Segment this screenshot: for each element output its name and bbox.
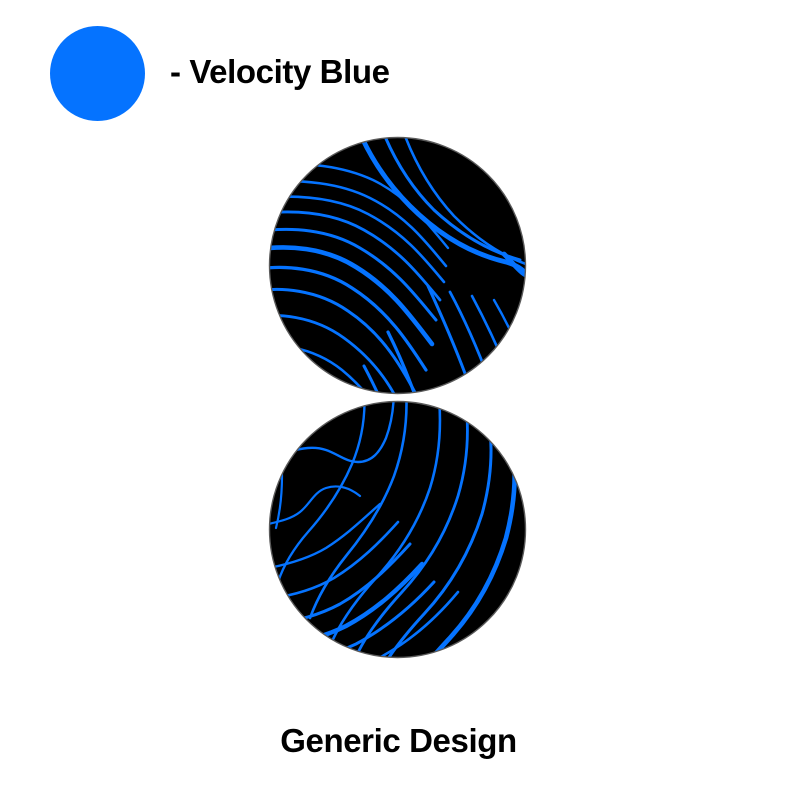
legend-label: - Velocity Blue [170, 55, 390, 88]
caption-text: Generic Design [0, 724, 797, 757]
color-swatch-circle-icon [50, 26, 145, 121]
artwork-canvas: - Velocity Blue [0, 0, 797, 797]
orb-bottom [268, 400, 527, 659]
orb-top [268, 136, 527, 395]
orb-bottom-fill [270, 402, 526, 658]
legend: - Velocity Blue [50, 26, 750, 122]
